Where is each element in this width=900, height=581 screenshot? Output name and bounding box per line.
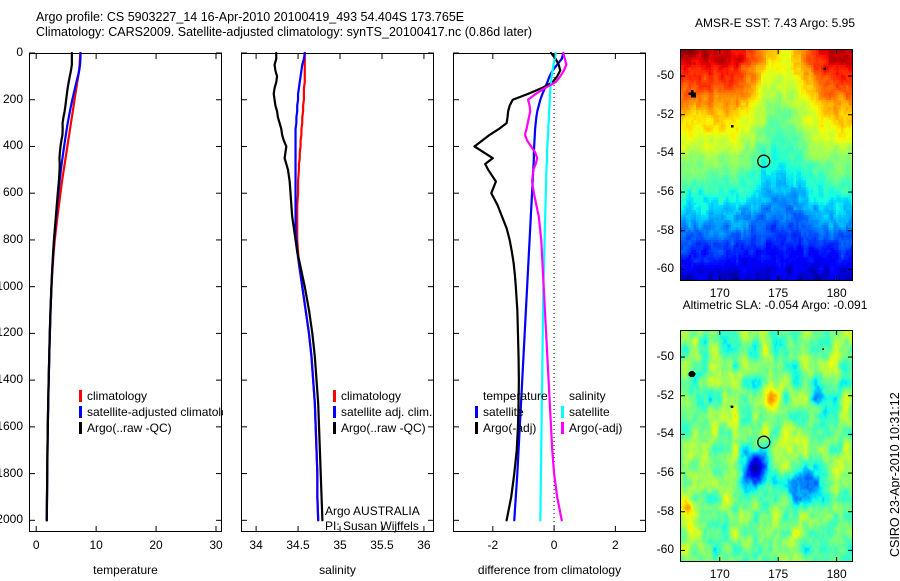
legend-item: climatology: [333, 388, 432, 404]
y-tick-label: 400: [0, 138, 23, 152]
map-y-tick-label: -60: [638, 261, 674, 275]
x-tick-label: 0: [6, 538, 66, 552]
map-y-tick-label: -56: [638, 465, 674, 479]
csiro-timestamp: CSIRO 23-Apr-2010 10:31:12: [888, 392, 900, 557]
legend-swatch-argo: [475, 422, 478, 434]
legend-swatch-satellite: [79, 406, 82, 418]
legend-item: Argo(-adj): [475, 420, 548, 436]
legend-header-salinity: salinity: [561, 388, 622, 404]
sla-map-title: Altimetric SLA: -0.054 Argo: -0.091: [655, 298, 895, 312]
map-y-tick-label: -58: [638, 504, 674, 518]
x-tick-label: -2: [463, 538, 523, 552]
map-y-tick-label: -54: [638, 145, 674, 159]
difference-axis-label: difference from climatology: [453, 563, 646, 577]
salinity-panel[interactable]: [241, 53, 434, 532]
argo-credit: Argo AUSTRALIA PI: Susan Wijffels: [325, 504, 420, 534]
map-y-tick-label: -56: [638, 184, 674, 198]
map-y-tick-label: -58: [638, 223, 674, 237]
legend-swatch-salinity-argo: [561, 422, 564, 434]
map-y-tick-label: -54: [638, 426, 674, 440]
title-line-2: Climatology: CARS2009. Satellite-adjuste…: [36, 25, 532, 40]
legend-item: satellite: [561, 404, 622, 420]
legend-label: Argo(-adj): [569, 420, 622, 436]
difference-panel[interactable]: [453, 53, 646, 532]
map-x-tick-label: 170: [695, 567, 745, 581]
difference-legend-salinity: salinity satellite Argo(-adj): [561, 388, 622, 436]
credit-line-1: Argo AUSTRALIA: [325, 504, 420, 519]
legend-label: Argo(-adj): [483, 420, 536, 436]
legend-label: satellite: [569, 404, 610, 420]
x-tick-label: 36: [394, 538, 454, 552]
legend-swatch-satellite: [475, 406, 478, 418]
y-tick-label: 600: [0, 185, 23, 199]
y-tick-label: 800: [0, 232, 23, 246]
map-y-tick-label: -52: [638, 388, 674, 402]
legend-label: climatology: [87, 388, 147, 404]
legend-item: satellite-adjusted climatolo: [79, 404, 228, 420]
map-x-tick-label: 175: [753, 567, 803, 581]
y-tick-label: 1200: [0, 325, 23, 339]
temperature-axis-label: temperature: [29, 563, 222, 577]
credit-line-2: PI: Susan Wijffels: [325, 519, 420, 534]
legend-label: satellite: [483, 404, 524, 420]
panel1-right-mask: [223, 380, 237, 450]
map-y-tick-label: -60: [638, 542, 674, 556]
x-tick-label: 0: [524, 538, 584, 552]
legend-label: Argo(..raw -QC): [87, 420, 172, 436]
y-tick-label: 1400: [0, 372, 23, 386]
sst-map-raster: [681, 50, 852, 280]
legend-swatch-argo: [333, 422, 336, 434]
y-tick-label: 1800: [0, 466, 23, 480]
y-tick-label: 200: [0, 92, 23, 106]
sst-map-title: AMSR-E SST: 7.43 Argo: 5.95: [660, 16, 890, 30]
legend-swatch-satellite: [333, 406, 336, 418]
y-tick-label: 1600: [0, 419, 23, 433]
x-tick-label: 2: [585, 538, 645, 552]
legend-label: climatology: [341, 388, 401, 404]
legend-label: satellite adj. clim.: [341, 404, 432, 420]
legend-label: satellite-adjusted climatolo: [87, 404, 228, 420]
legend-item: satellite adj. clim.: [333, 404, 432, 420]
y-tick-label: 1000: [0, 279, 23, 293]
y-tick-label: 2000: [0, 512, 23, 526]
legend-item: climatology: [79, 388, 228, 404]
y-tick-label: 0: [0, 45, 23, 59]
map-y-tick-label: -50: [638, 68, 674, 82]
temperature-panel[interactable]: [29, 53, 222, 532]
legend-item: Argo(..raw -QC): [79, 420, 228, 436]
legend-swatch-argo: [79, 422, 82, 434]
map-x-tick-label: 180: [812, 567, 862, 581]
x-tick-label: 10: [66, 538, 126, 552]
salinity-axis-label: salinity: [241, 563, 434, 577]
map-y-tick-label: -52: [638, 107, 674, 121]
legend-item: satellite: [475, 404, 548, 420]
temperature-legend: climatology satellite-adjusted climatolo…: [79, 388, 228, 436]
legend-label: Argo(..raw -QC): [341, 420, 426, 436]
legend-swatch-climatology: [79, 390, 82, 402]
legend-item: Argo(-adj): [561, 420, 622, 436]
figure-title: Argo profile: CS 5903227_14 16-Apr-2010 …: [36, 10, 532, 40]
legend-swatch-salinity-satellite: [561, 406, 564, 418]
map-y-tick-label: -50: [638, 349, 674, 363]
title-line-1: Argo profile: CS 5903227_14 16-Apr-2010 …: [36, 10, 532, 25]
salinity-legend: climatology satellite adj. clim. Argo(..…: [333, 388, 432, 436]
sla-map-raster: [681, 331, 852, 561]
x-tick-label: 20: [126, 538, 186, 552]
legend-header-temperature: temperature: [475, 388, 548, 404]
legend-item: Argo(..raw -QC): [333, 420, 432, 436]
difference-legend-temperature: temperature satellite Argo(-adj): [475, 388, 548, 436]
legend-swatch-climatology: [333, 390, 336, 402]
